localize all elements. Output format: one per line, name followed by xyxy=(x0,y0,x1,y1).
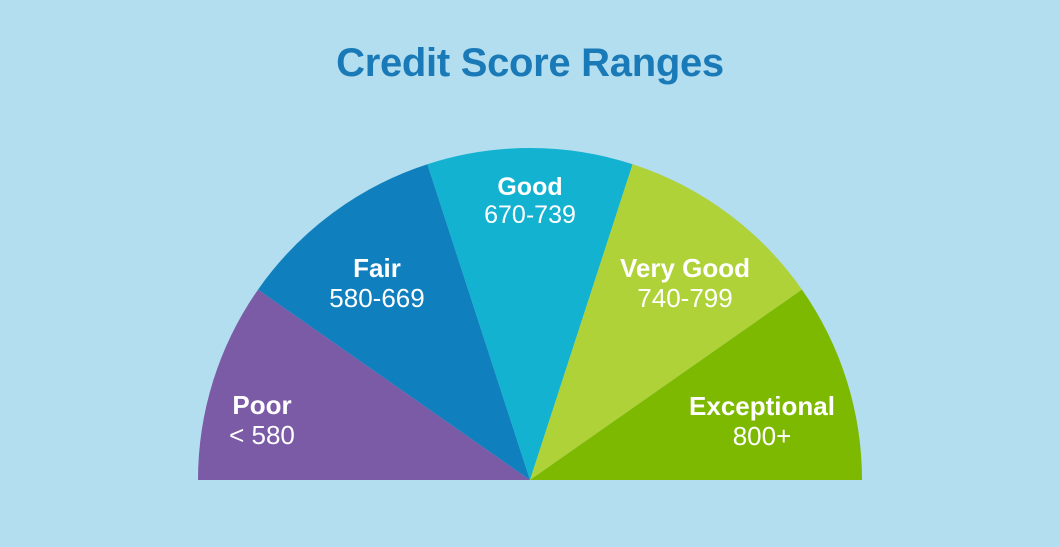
credit-score-gauge: Poor< 580Fair580-669Good670-739Very Good… xyxy=(0,0,1060,547)
segment-label-good: Good xyxy=(497,173,562,201)
segment-range-poor: < 580 xyxy=(229,420,295,450)
gauge-svg: Poor< 580Fair580-669Good670-739Very Good… xyxy=(0,0,1060,547)
segment-label-poor: Poor xyxy=(232,390,291,420)
segment-range-good: 670-739 xyxy=(484,201,576,229)
segment-range-very-good: 740-799 xyxy=(637,283,732,313)
credit-score-infographic: Credit Score Ranges Poor< 580Fair580-669… xyxy=(0,0,1060,547)
segment-range-fair: 580-669 xyxy=(329,283,424,313)
segment-label-very-good: Very Good xyxy=(620,253,750,283)
segment-range-exceptional: 800+ xyxy=(733,421,792,451)
segment-label-fair: Fair xyxy=(353,253,401,283)
segment-label-exceptional: Exceptional xyxy=(689,391,835,421)
